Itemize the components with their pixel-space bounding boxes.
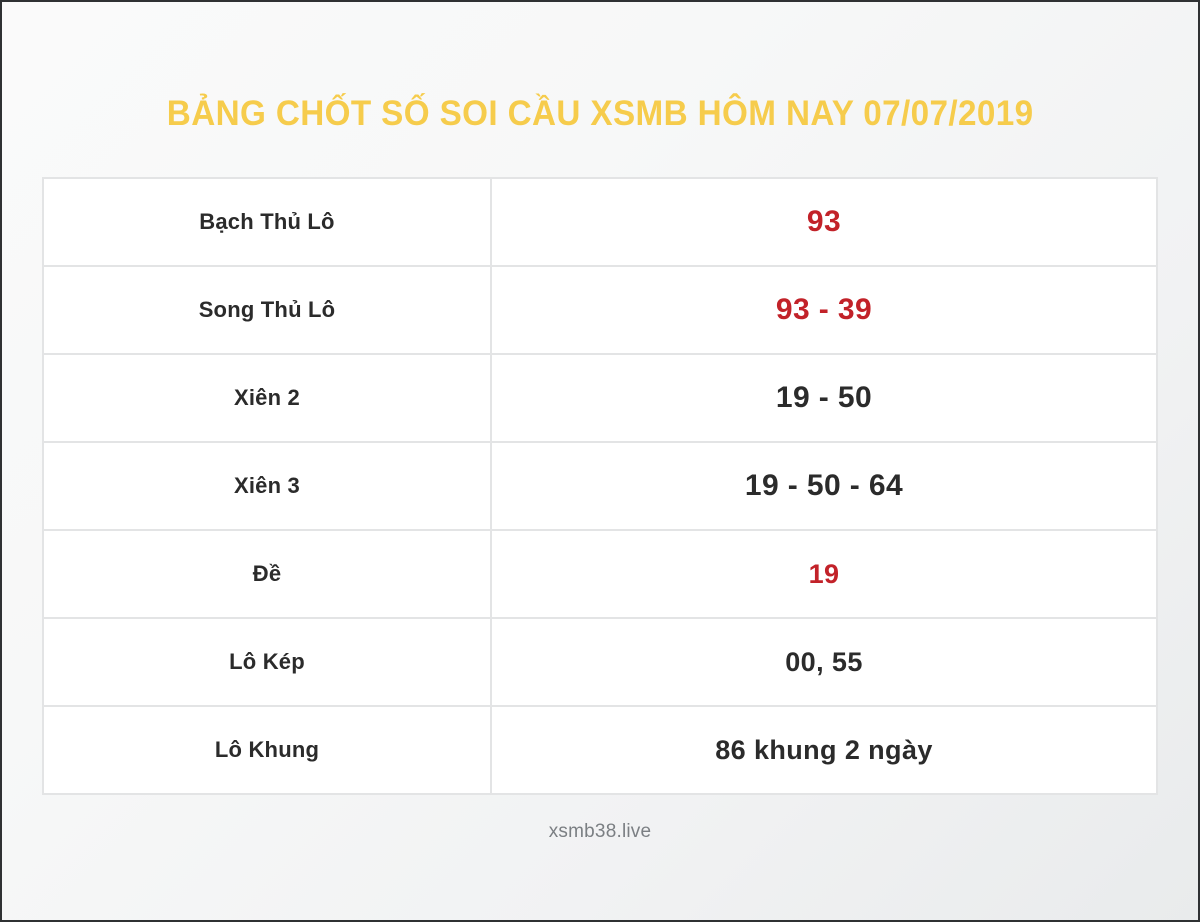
prediction-number-value: 00, 55 — [785, 647, 862, 677]
prediction-type-label: Bạch Thủ Lô — [199, 209, 334, 234]
site-watermark: xsmb38.live — [549, 821, 652, 842]
table-row: Xiên 219 - 50 — [42, 355, 1158, 443]
prediction-type-label: Lô Kép — [229, 649, 305, 674]
page-title-container: BẢNG CHỐT SỐ SOI CẦU XSMB HÔM NAY 07/07/… — [2, 94, 1198, 144]
table-row: Đề19 — [42, 531, 1158, 619]
table-cell-value: 93 - 39 — [492, 267, 1158, 355]
table-cell-value: 86 khung 2 ngày — [492, 707, 1158, 795]
table-cell-value: 00, 55 — [492, 619, 1158, 707]
prediction-number-value: 19 — [809, 559, 840, 589]
prediction-type-label: Đề — [253, 561, 282, 586]
prediction-type-label: Xiên 2 — [234, 385, 300, 410]
page-title: BẢNG CHỐT SỐ SOI CẦU XSMB HÔM NAY 07/07/… — [167, 94, 1034, 134]
table-row: Lô Khung86 khung 2 ngày — [42, 707, 1158, 795]
footer: xsmb38.live — [2, 821, 1198, 843]
prediction-table-body: Bạch Thủ Lô93Song Thủ Lô93 - 39Xiên 219 … — [42, 177, 1158, 795]
table-cell-value: 19 - 50 - 64 — [492, 443, 1158, 531]
table-row: Bạch Thủ Lô93 — [42, 177, 1158, 267]
table-row: Lô Kép00, 55 — [42, 619, 1158, 707]
prediction-table: Bạch Thủ Lô93Song Thủ Lô93 - 39Xiên 219 … — [42, 177, 1158, 795]
table-cell-label: Xiên 2 — [42, 355, 492, 443]
lottery-prediction-board: BẢNG CHỐT SỐ SOI CẦU XSMB HÔM NAY 07/07/… — [0, 0, 1200, 922]
prediction-type-label: Xiên 3 — [234, 473, 300, 498]
table-cell-label: Xiên 3 — [42, 443, 492, 531]
prediction-number-value: 19 - 50 — [776, 381, 872, 414]
table-cell-label: Song Thủ Lô — [42, 267, 492, 355]
prediction-number-value: 93 — [807, 205, 841, 238]
prediction-number-value: 93 - 39 — [776, 293, 872, 326]
table-cell-label: Lô Kép — [42, 619, 492, 707]
table-cell-label: Đề — [42, 531, 492, 619]
table-cell-value: 19 - 50 — [492, 355, 1158, 443]
prediction-table-container: Bạch Thủ Lô93Song Thủ Lô93 - 39Xiên 219 … — [42, 177, 1158, 795]
prediction-type-label: Song Thủ Lô — [199, 297, 336, 322]
prediction-type-label: Lô Khung — [215, 737, 319, 762]
table-cell-value: 19 — [492, 531, 1158, 619]
table-cell-label: Lô Khung — [42, 707, 492, 795]
prediction-number-value: 19 - 50 - 64 — [745, 469, 903, 502]
prediction-number-value: 86 khung 2 ngày — [715, 735, 933, 765]
table-row: Xiên 319 - 50 - 64 — [42, 443, 1158, 531]
table-cell-value: 93 — [492, 177, 1158, 267]
table-cell-label: Bạch Thủ Lô — [42, 177, 492, 267]
table-row: Song Thủ Lô93 - 39 — [42, 267, 1158, 355]
